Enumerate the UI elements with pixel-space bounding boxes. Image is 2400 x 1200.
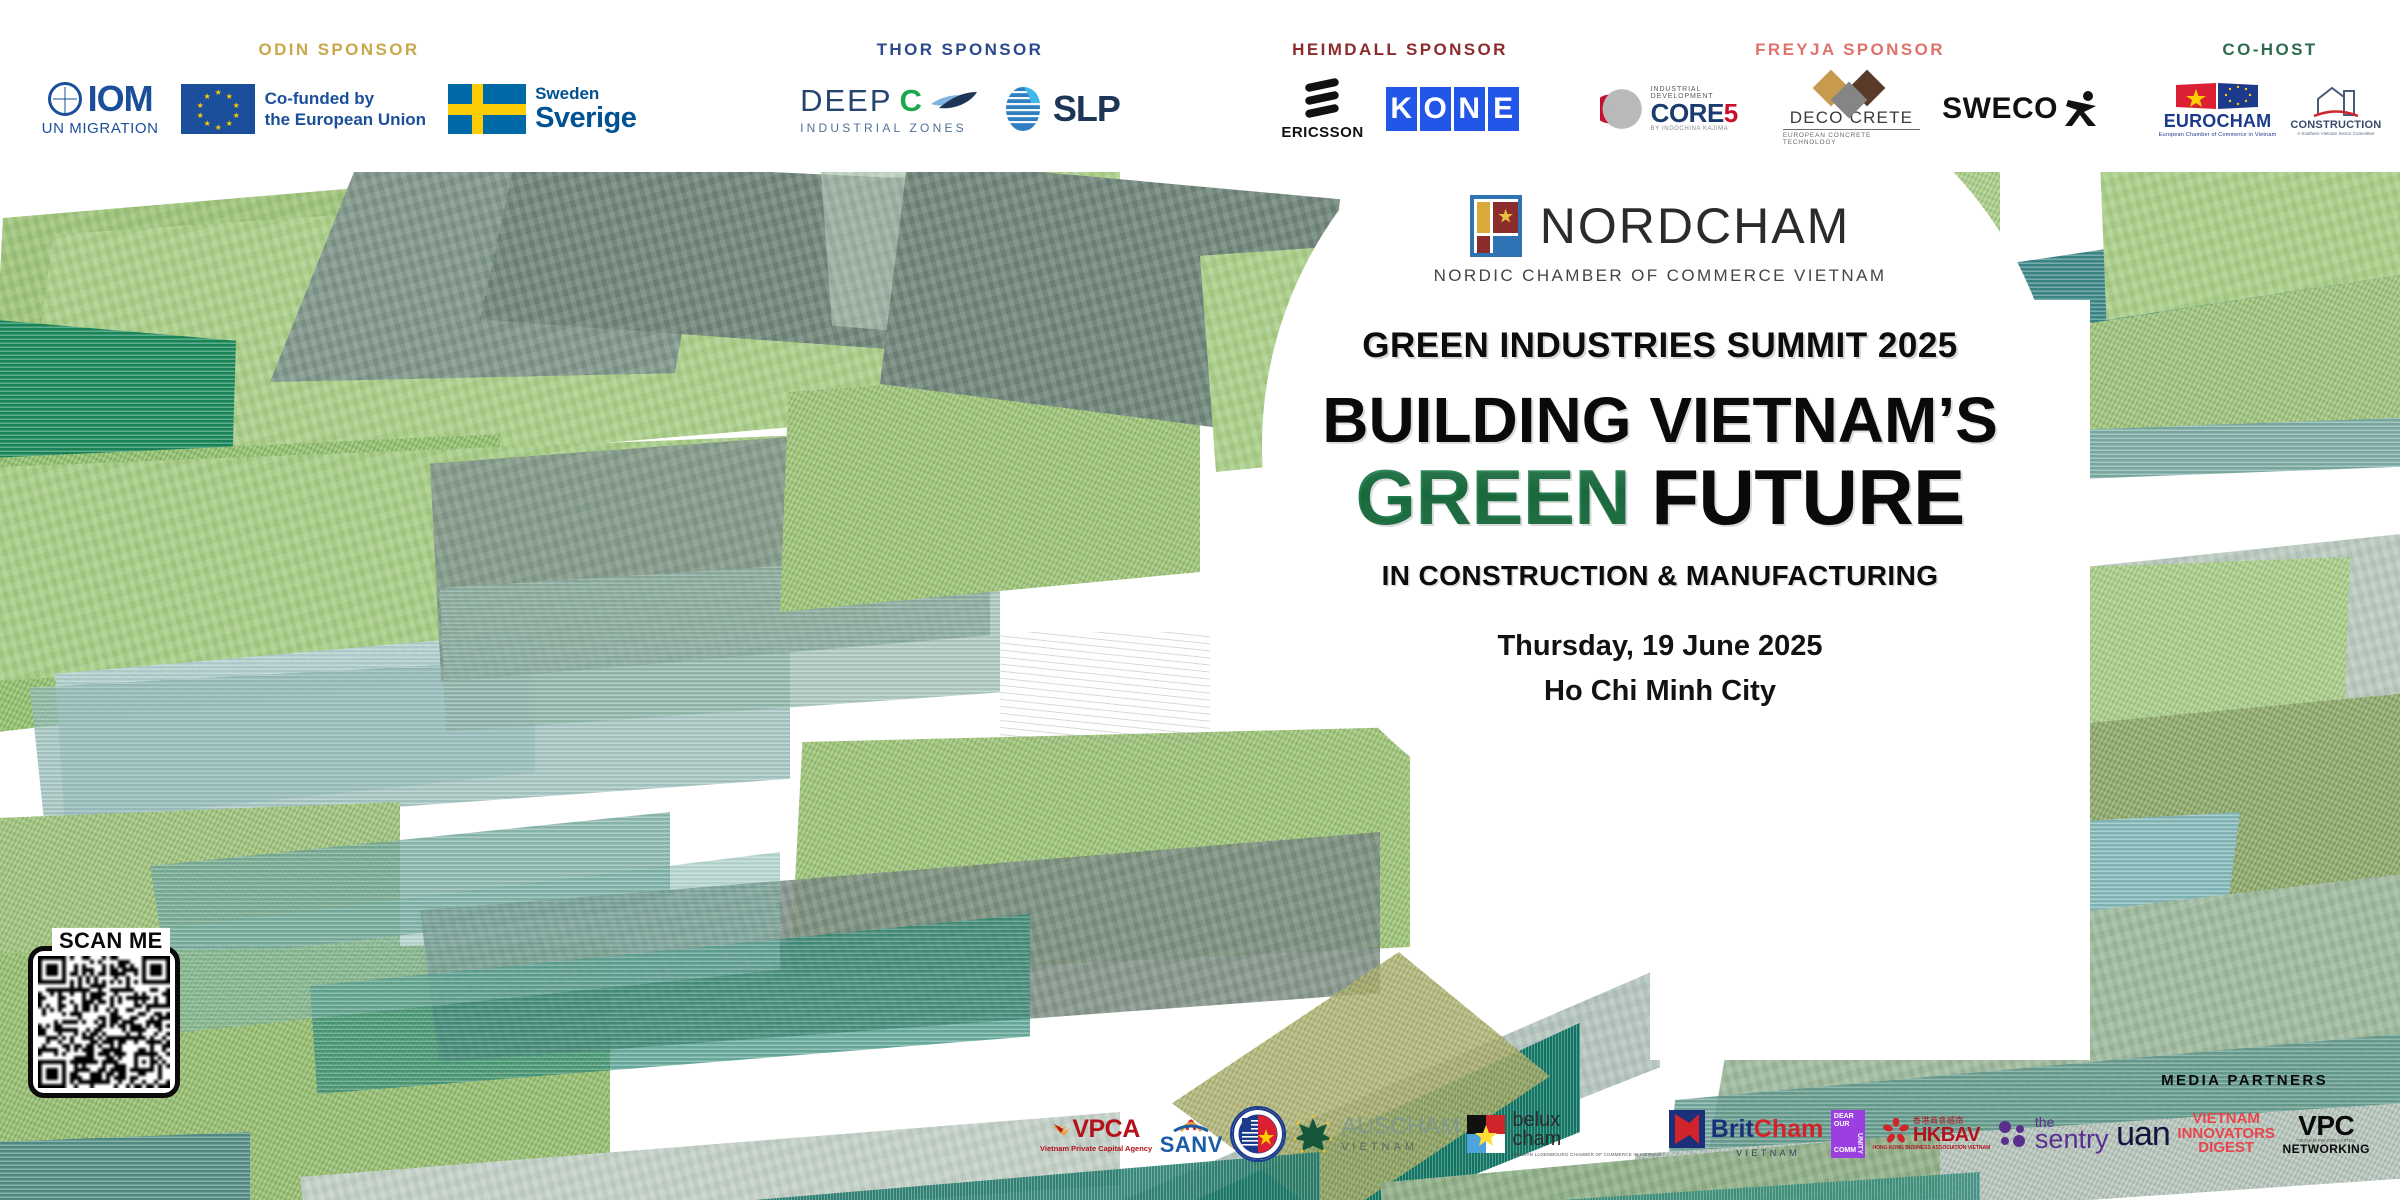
slp-logo: SLP	[1001, 85, 1120, 133]
deepc-c-letter: C	[900, 83, 922, 119]
iom-wordmark: IOM	[88, 81, 153, 117]
hkbav-wordmark: HKBAV	[1913, 1125, 1980, 1145]
event-banner: ODIN SPONSOR IOM UN MIGRATION ★ ★ ★ ★	[0, 0, 2400, 1200]
core5-wordmark: CORE5	[1651, 100, 1761, 126]
eurocham-wordmark: EUROCHAM	[2164, 111, 2272, 132]
sweden-line2: Sverige	[535, 103, 636, 133]
iom-subtitle: UN MIGRATION	[42, 120, 159, 137]
headline-future-word: FUTURE	[1651, 453, 1964, 541]
vietnam-eu-flags-icon	[2174, 81, 2260, 111]
ericsson-logo: ERICSSON	[1281, 78, 1363, 141]
core5-byline: BY INDOCHINA KAJIMA	[1651, 126, 1761, 132]
sweden-line1: Sweden	[535, 85, 636, 103]
beluxcham-logo: belux cham BELGIAN LUXEMBOURG CHAMBER OF…	[1467, 1103, 1661, 1165]
sponsor-logo-row: ERICSSON K O N E	[1281, 74, 1518, 144]
belux-cham-word: cham	[1512, 1130, 1661, 1150]
sponsor-tier-freyja: FREYJA SPONSOR INDUSTRIAL DEVELOPMENT CO…	[1600, 40, 2100, 144]
sponsor-tier-cohost: CO-HOST	[2150, 40, 2390, 144]
sponsor-tier-thor: THOR SPONSOR DEEP C INDUSTRIAL ZONES	[760, 40, 1160, 144]
nordcham-tagline: NORDIC CHAMBER OF COMMERCE VIETNAM	[1260, 266, 2060, 286]
sponsor-tier-label: FREYJA SPONSOR	[1755, 40, 1945, 60]
eurocham-subtitle: European Chamber of Commerce in Vietnam	[2159, 132, 2277, 138]
bird-icon	[1052, 1119, 1074, 1141]
sweden-flag-icon	[448, 84, 526, 134]
amcham-vietnam-logo	[1230, 1103, 1286, 1165]
sponsor-tier-label: THOR SPONSOR	[877, 40, 1044, 60]
iom-logo: IOM UN MIGRATION	[42, 81, 159, 137]
sponsor-tier-heimdall: HEIMDALL SPONSOR ERICSSON K O N	[1255, 40, 1545, 144]
nordcham-mark-icon: ★	[1470, 195, 1522, 257]
sanv-logo: SANV	[1160, 1103, 1223, 1165]
sponsor-tier-label: ODIN SPONSOR	[258, 40, 419, 60]
kone-letter: O	[1420, 87, 1451, 131]
media-partners-label: MEDIA PARTNERS	[2161, 1072, 2328, 1089]
eu-line2: the European Union	[265, 109, 427, 130]
ericsson-mark-icon	[1299, 78, 1345, 120]
sentry-wordmark: sentry	[2035, 1128, 2109, 1152]
vpca-wordmark: VPCA	[1072, 1115, 1139, 1144]
globe-stripes-icon	[1001, 85, 1045, 133]
hkbav-logo: 香港商會越南 HKBAV HONG KONG BUSINESS ASSOCIAT…	[1873, 1103, 1991, 1165]
deepc-subtitle: INDUSTRIAL ZONES	[800, 121, 979, 135]
britcham-brit: Brit	[1711, 1115, 1754, 1143]
dear-our-community-logo: DEAR OUR COMM UNITY	[1831, 1103, 1865, 1165]
sponsor-tier-label: HEIMDALL SPONSOR	[1292, 40, 1508, 60]
core5-logo: INDUSTRIAL DEVELOPMENT CORE5 BY INDOCHIN…	[1600, 86, 1761, 132]
eu-flag-icon: ★ ★ ★ ★ ★ ★ ★ ★ ★ ★	[181, 84, 255, 134]
britcham-subtitle: VIETNAM	[1736, 1148, 1800, 1158]
hkbav-subtitle: HONG KONG BUSINESS ASSOCIATION VIETNAM	[1873, 1145, 1991, 1151]
construction-subtitle: A Southern Vietnam Sector Committee	[2297, 131, 2374, 136]
belux-subtitle: BELGIAN LUXEMBOURG CHAMBER OF COMMERCE I…	[1512, 1153, 1661, 1157]
nordcham-logo: ★ NORDCHAM	[1260, 195, 2060, 257]
sponsor-logo-row: DEEP C INDUSTRIAL ZONES	[800, 74, 1120, 144]
belux-flag-icon	[1467, 1115, 1505, 1153]
auscham-aus: AUS	[1341, 1113, 1390, 1140]
slp-wordmark: SLP	[1053, 88, 1120, 130]
sentry-dots-icon	[1998, 1120, 2028, 1148]
dear-line2: OUR	[1834, 1121, 1854, 1129]
sweco-logo: SWECO	[1942, 90, 2100, 128]
britcham-cham: Cham	[1754, 1115, 1823, 1143]
vpc-subtitle: NETWORKING	[2283, 1144, 2370, 1155]
sanv-wordmark: SANV	[1160, 1132, 1223, 1158]
kone-letter: N	[1454, 87, 1485, 131]
union-flag-icon	[1669, 1110, 1705, 1148]
vid-line3: DIGEST	[2198, 1141, 2254, 1156]
uan-wordmark: uan	[2116, 1115, 2170, 1154]
auscham-subtitle: VIETNAM	[1341, 1142, 1460, 1153]
dear-line1: DEAR	[1834, 1113, 1854, 1121]
sponsor-header-bar: ODIN SPONSOR IOM UN MIGRATION ★ ★ ★ ★	[0, 0, 2400, 172]
globe-icon	[48, 82, 82, 116]
event-city: Ho Chi Minh City	[1260, 675, 2060, 708]
kone-letter: K	[1386, 87, 1417, 131]
britcham-logo: BritCham VIETNAM	[1669, 1103, 1824, 1165]
construction-wordmark: CONSTRUCTION	[2290, 119, 2381, 131]
sponsor-tier-odin: ODIN SPONSOR IOM UN MIGRATION ★ ★ ★ ★	[14, 40, 664, 144]
deep-c-logo: DEEP C INDUSTRIAL ZONES	[800, 83, 979, 135]
swoosh-icon	[929, 90, 979, 112]
sponsor-logo-row: EUROCHAM European Chamber of Commerce in…	[2159, 74, 2382, 144]
event-date: Thursday, 19 June 2025	[1260, 630, 2060, 663]
uan-logo: uan	[2116, 1103, 2170, 1165]
construction-logo: CONSTRUCTION A Southern Vietnam Sector C…	[2290, 83, 2381, 136]
bg-shard	[0, 1132, 250, 1200]
qr-code-icon[interactable]	[38, 956, 170, 1088]
qr-scan-me-label: SCAN ME	[52, 928, 170, 954]
vietnam-innovators-digest-logo: VIETNAM INNOVATORS DIGEST	[2177, 1103, 2275, 1165]
bg-hairlines	[1000, 632, 1210, 742]
vpc-networking-logo: VPC VIETNAM PRIVATE CAPITAL NETWORKING	[2283, 1103, 2370, 1165]
deepc-word: DEEP	[800, 83, 892, 119]
star-icon: ★	[1497, 208, 1514, 227]
decocrete-logo: DECO CRETE EUROPEAN CONCRETE TECHNOLOGY	[1783, 73, 1920, 146]
headline-line-2: GREEN FUTURE	[1260, 458, 2060, 536]
vpca-subtitle: Vietnam Private Capital Agency	[1040, 1144, 1152, 1153]
the-sentry-logo: the sentry	[1998, 1103, 2109, 1165]
eu-cofunded-logo: ★ ★ ★ ★ ★ ★ ★ ★ ★ ★ Co-funded by the Eur…	[181, 84, 427, 134]
qr-code-frame[interactable]	[28, 946, 180, 1098]
kone-letter: E	[1488, 87, 1519, 131]
arch-icon	[1169, 1110, 1213, 1132]
nordcham-wordmark: NORDCHAM	[1540, 197, 1850, 255]
sponsor-logo-row: IOM UN MIGRATION ★ ★ ★ ★ ★ ★ ★ ★ ★	[42, 74, 637, 144]
headline-line-1: BUILDING VIETNAM’S	[1260, 388, 2060, 452]
sweco-figure-icon	[2064, 90, 2100, 128]
eurocham-logo: EUROCHAM European Chamber of Commerce in…	[2159, 81, 2277, 138]
auscham-logo: AUSCHAM VIETNAM	[1294, 1103, 1460, 1165]
core5-mark-icon	[1600, 86, 1644, 132]
vpc-wordmark: VPC	[2298, 1113, 2354, 1140]
event-title-block: ★ NORDCHAM NORDIC CHAMBER OF COMMERCE VI…	[1260, 195, 2060, 708]
kone-logo: K O N E	[1386, 87, 1519, 131]
summit-subtitle: GREEN INDUSTRIES SUMMIT 2025	[1260, 326, 2060, 366]
media-partners-row: VPCA Vietnam Private Capital Agency SANV	[1040, 1098, 2370, 1170]
bauhinia-icon	[1883, 1118, 1909, 1144]
star-burst-icon	[1294, 1115, 1332, 1153]
eu-line1: Co-funded by	[265, 88, 427, 109]
building-icon	[2310, 83, 2362, 119]
auscham-cham: CHAM	[1390, 1113, 1460, 1140]
sponsor-logo-row: INDUSTRIAL DEVELOPMENT CORE5 BY INDOCHIN…	[1600, 74, 2100, 144]
dear-line4: UNITY	[1856, 1133, 1863, 1154]
sweco-wordmark: SWECO	[1942, 92, 2058, 126]
amcham-seal-icon	[1232, 1108, 1284, 1160]
ericsson-wordmark: ERICSSON	[1281, 124, 1363, 141]
sponsor-tier-label: CO-HOST	[2222, 40, 2317, 60]
sweden-sverige-logo: Sweden Sverige	[448, 84, 636, 134]
diamond-icon	[1810, 73, 1892, 107]
headline-green-word: GREEN	[1355, 453, 1630, 541]
event-subtitle: IN CONSTRUCTION & MANUFACTURING	[1260, 560, 2060, 592]
vpca-logo: VPCA Vietnam Private Capital Agency	[1040, 1103, 1152, 1165]
dear-line3: COMM	[1834, 1147, 1856, 1155]
decocrete-subtitle: EUROPEAN CONCRETE TECHNOLOGY	[1783, 129, 1920, 146]
